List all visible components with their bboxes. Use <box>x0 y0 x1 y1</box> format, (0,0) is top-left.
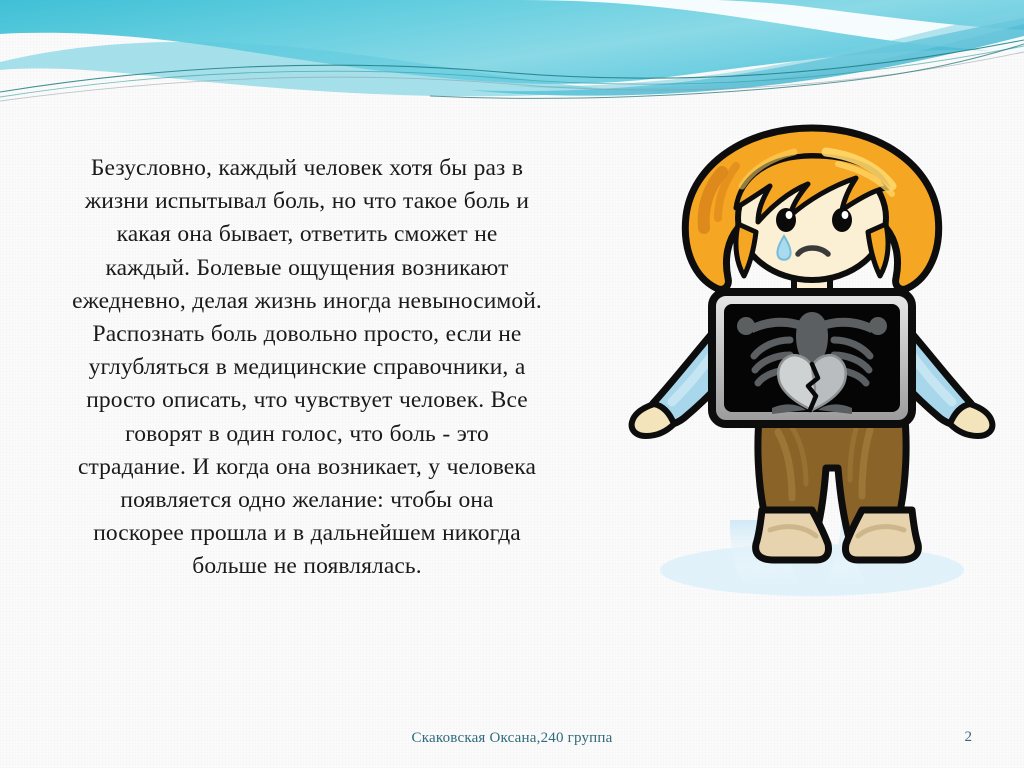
footer-author-note: Скаковская Оксана,240 группа <box>0 730 1024 747</box>
boy-left-hand <box>632 404 674 436</box>
crying-boy-xray-illustration <box>612 112 1012 672</box>
right-eye <box>832 208 852 232</box>
left-eye <box>776 208 796 232</box>
decorative-wave-band <box>0 0 1024 112</box>
slide-canvas: Безусловно, каждый человек хотя бы раз в… <box>0 0 1024 768</box>
boy-head <box>685 128 938 289</box>
xray-plate <box>712 292 912 424</box>
boy-right-hand <box>950 404 992 436</box>
slide-page-number: 2 <box>965 729 973 746</box>
body-paragraph: Безусловно, каждый человек хотя бы раз в… <box>72 152 542 584</box>
